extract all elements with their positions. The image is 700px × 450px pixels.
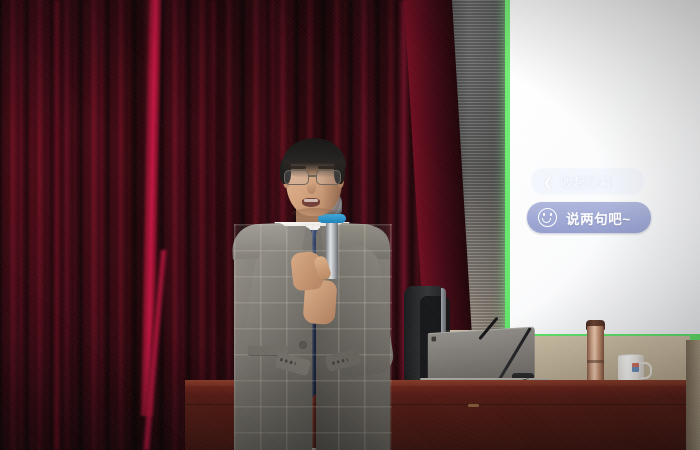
ceramic-mug-handle xyxy=(640,362,652,379)
collapse-danmaku-label: 收起弹幕 xyxy=(560,172,612,191)
presenter-nose xyxy=(307,182,316,194)
desk-right-edge xyxy=(686,340,700,450)
chevron-left-icon: ❮ xyxy=(543,176,553,188)
collapse-danmaku-button[interactable]: ❮ 收起弹幕 xyxy=(531,168,644,195)
comment-button[interactable]: 说两句吧~ xyxy=(527,202,651,233)
glasses-lens-left xyxy=(284,170,309,185)
glasses-lens-right xyxy=(316,170,341,185)
slide-ui-overlay: ❮ 收起弹幕 说两句吧~ xyxy=(505,0,700,340)
presenter xyxy=(230,130,430,450)
presenter-mouth xyxy=(302,198,320,207)
curtain-fold xyxy=(52,0,61,450)
thermos-flask xyxy=(587,326,604,384)
mug-logo xyxy=(632,363,639,372)
suit-button xyxy=(300,342,306,348)
projection-screen: ❮ 收起弹幕 说两句吧~ xyxy=(505,0,700,340)
presenter-eyebrow-left xyxy=(286,166,306,169)
desk-drawer-handle xyxy=(468,404,479,407)
presentation-scene: ❮ 收起弹幕 说两句吧~ xyxy=(0,0,700,450)
smiley-face-icon xyxy=(538,208,557,227)
presenter-chin-shadow xyxy=(292,208,336,218)
thermos-band xyxy=(587,360,604,363)
presenter-eyebrow-right xyxy=(318,166,338,169)
comment-button-label: 说两句吧~ xyxy=(566,208,631,228)
